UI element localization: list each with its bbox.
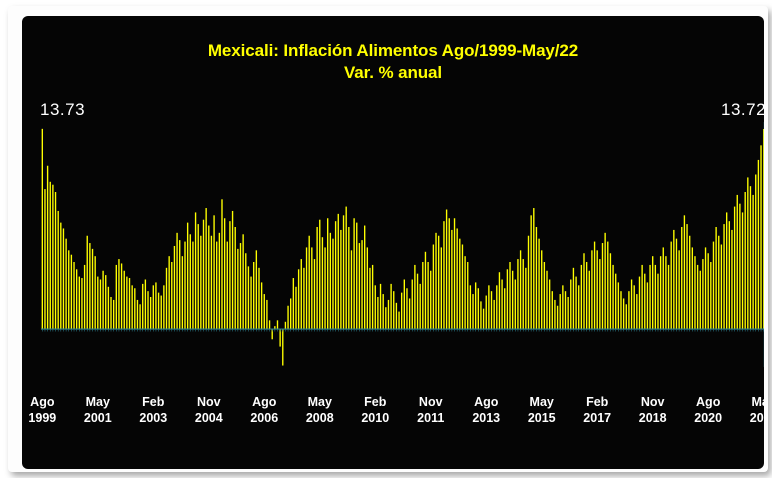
x-tick-month: May [68, 394, 128, 410]
bar [554, 300, 555, 329]
bar [665, 256, 666, 329]
bar [282, 329, 283, 365]
bar [541, 250, 542, 329]
bar [343, 215, 344, 329]
last-value-label: 13.72 [721, 100, 764, 120]
bar [480, 301, 481, 329]
bar [102, 271, 103, 329]
x-tick-month: Ago [22, 394, 72, 410]
bar [182, 256, 183, 329]
bar [256, 250, 257, 329]
bar [557, 306, 558, 329]
bar [348, 227, 349, 329]
bar [414, 265, 415, 329]
bar [504, 288, 505, 329]
bar [747, 177, 748, 329]
bar [634, 285, 635, 329]
bar [438, 236, 439, 329]
bar [591, 250, 592, 329]
bar [116, 265, 117, 329]
bar [113, 300, 114, 329]
bar [422, 262, 423, 329]
bar [538, 239, 539, 329]
bar [464, 256, 465, 329]
bar [478, 288, 479, 329]
bar [190, 234, 191, 329]
bar [607, 242, 608, 330]
bar [383, 294, 384, 329]
bar [491, 291, 492, 329]
bar [626, 304, 627, 329]
bar [668, 265, 669, 329]
bar [50, 182, 51, 329]
bar [533, 208, 534, 329]
bar [92, 249, 93, 329]
bar [602, 243, 603, 329]
bar [240, 243, 241, 329]
bar [689, 236, 690, 329]
x-tick-month: Ago [678, 394, 738, 410]
bar [721, 245, 722, 330]
bar [301, 259, 302, 329]
bar [264, 294, 265, 329]
x-tick-year: 2017 [567, 410, 627, 426]
bar [163, 285, 164, 329]
bar [715, 227, 716, 329]
bar [427, 262, 428, 329]
bar [636, 294, 637, 329]
bar [581, 265, 582, 329]
plot-area [41, 122, 764, 367]
bar [390, 284, 391, 329]
bar [332, 239, 333, 329]
x-tick-month: Nov [401, 394, 461, 410]
bar [530, 215, 531, 329]
bar [731, 230, 732, 329]
bar [126, 277, 127, 330]
bar [346, 207, 347, 330]
bar [87, 236, 88, 329]
bar [708, 253, 709, 329]
bar [242, 234, 243, 329]
bar [567, 297, 568, 329]
bar [425, 252, 426, 329]
bar [42, 129, 43, 329]
bar [351, 250, 352, 329]
bar [734, 207, 735, 330]
bar [652, 256, 653, 329]
bar [694, 256, 695, 329]
x-tick-label-2013: Ago2013 [456, 394, 516, 426]
bar [124, 271, 125, 329]
bar [755, 175, 756, 330]
bar [620, 291, 621, 329]
first-value-label: 13.73 [40, 100, 85, 120]
bar [623, 298, 624, 329]
bar [520, 250, 521, 329]
bar [316, 227, 317, 329]
chart-title-block: Mexicali: Inflación Alimentos Ago/1999-M… [22, 40, 764, 84]
bar [211, 236, 212, 329]
bar [552, 291, 553, 329]
bar [512, 271, 513, 329]
bar [338, 214, 339, 329]
bar [367, 247, 368, 329]
bar [451, 230, 452, 329]
bar [459, 239, 460, 329]
bar [618, 282, 619, 329]
bar [499, 272, 500, 329]
bar [134, 288, 135, 329]
x-tick-month: Ago [456, 394, 516, 410]
bar [663, 247, 664, 329]
bar [700, 271, 701, 329]
bar [322, 237, 323, 329]
bar [528, 236, 529, 329]
bar [660, 256, 661, 329]
bar [356, 223, 357, 329]
bar [110, 297, 111, 329]
x-tick-month: Feb [123, 394, 183, 410]
chart-outer-frame: Mexicali: Inflación Alimentos Ago/1999-M… [8, 6, 768, 472]
x-tick-year: 2008 [290, 410, 350, 426]
bar [287, 306, 288, 329]
x-tick-year: 2013 [456, 410, 516, 426]
bar [266, 300, 267, 329]
x-tick-label-2018: Nov2018 [623, 394, 683, 426]
x-tick-month: Nov [623, 394, 683, 410]
bar [544, 262, 545, 329]
bar [575, 277, 576, 330]
bar [147, 291, 148, 329]
bar [155, 282, 156, 329]
bar [279, 329, 280, 347]
bar [493, 300, 494, 329]
bar [546, 271, 547, 329]
bar [195, 212, 196, 329]
x-tick-label-1999: Ago1999 [22, 394, 72, 426]
bar [657, 274, 658, 329]
bar [393, 291, 394, 329]
x-tick-year: 2020 [678, 410, 738, 426]
x-tick-year: 2015 [512, 410, 572, 426]
bar [475, 282, 476, 329]
x-tick-label-2001: May2001 [68, 394, 128, 426]
bar [319, 220, 320, 329]
x-tick-label-2011: Nov2011 [401, 394, 461, 426]
bar [142, 284, 143, 329]
bar [726, 212, 727, 329]
x-tick-year: 2003 [123, 410, 183, 426]
x-tick-year: 2006 [234, 410, 294, 426]
bar [536, 227, 537, 329]
x-tick-label-2015: May2015 [512, 394, 572, 426]
bar [118, 259, 119, 329]
bar [269, 320, 270, 329]
bar [655, 265, 656, 329]
bar [417, 274, 418, 329]
bar [219, 233, 220, 329]
bar [192, 242, 193, 330]
bar [612, 265, 613, 329]
x-tick-label-2020: Ago2020 [678, 394, 738, 426]
bar [525, 268, 526, 329]
bar [84, 265, 85, 329]
bar [745, 192, 746, 329]
bar [441, 247, 442, 329]
bar [174, 246, 175, 329]
bar [253, 262, 254, 329]
bar [628, 291, 629, 329]
bar [686, 224, 687, 329]
bar [604, 233, 605, 329]
bar [430, 271, 431, 329]
bar [752, 195, 753, 329]
bar [742, 212, 743, 329]
bar [523, 259, 524, 329]
bar [684, 215, 685, 329]
bar [647, 282, 648, 329]
bar [171, 262, 172, 329]
bar [100, 280, 101, 330]
bar [570, 280, 571, 330]
bar [311, 247, 312, 329]
bar [673, 230, 674, 329]
bar [419, 284, 420, 329]
x-tick-year: 2004 [179, 410, 239, 426]
x-tick-label-2017: Feb2017 [567, 394, 627, 426]
x-tick-month: Feb [345, 394, 405, 410]
screenshot-root: Mexicali: Inflación Alimentos Ago/1999-M… [0, 0, 772, 478]
bar [472, 294, 473, 329]
x-tick-label-2006: Ago2006 [234, 394, 294, 426]
bar [44, 189, 45, 329]
bar [406, 288, 407, 329]
x-tick-year: 2001 [68, 410, 128, 426]
bar [375, 285, 376, 329]
bar [89, 243, 90, 329]
bar [361, 240, 362, 329]
bar [229, 221, 230, 329]
bar [245, 253, 246, 329]
bar [248, 266, 249, 329]
bar [166, 268, 167, 329]
bar [702, 259, 703, 329]
bar [517, 259, 518, 329]
bar [377, 297, 378, 329]
x-tick-month: May [512, 394, 572, 410]
x-tick-label-2004: Nov2004 [179, 394, 239, 426]
bar [639, 277, 640, 330]
bar [235, 227, 236, 329]
bar [290, 298, 291, 329]
bar [295, 287, 296, 329]
bar [227, 242, 228, 330]
x-tick-label-2022: May2022 [734, 394, 764, 426]
bar [150, 297, 151, 329]
bar [97, 277, 98, 330]
bar [79, 277, 80, 330]
bar [565, 291, 566, 329]
bar [108, 287, 109, 329]
bar [277, 320, 278, 329]
bar [76, 269, 77, 329]
bar [205, 208, 206, 329]
x-tick-month: Ago [234, 394, 294, 410]
bar [697, 265, 698, 329]
bar [293, 278, 294, 329]
x-tick-month: Feb [567, 394, 627, 410]
bar [200, 236, 201, 329]
bar [388, 300, 389, 329]
bar [488, 285, 489, 329]
bar [161, 296, 162, 330]
bar [221, 199, 222, 329]
x-tick-year: 2018 [623, 410, 683, 426]
bar [456, 228, 457, 329]
bar [396, 303, 397, 329]
bar [729, 221, 730, 329]
bar [137, 300, 138, 329]
bar [129, 278, 130, 329]
x-tick-label-2010: Feb2010 [345, 394, 405, 426]
bar [401, 293, 402, 329]
bar [483, 309, 484, 329]
bar [449, 218, 450, 329]
bar [285, 322, 286, 329]
bar [224, 218, 225, 329]
bar [681, 227, 682, 329]
bar [380, 284, 381, 329]
bar [57, 211, 58, 329]
bar [549, 280, 550, 330]
bar [327, 218, 328, 329]
x-tick-year: 2010 [345, 410, 405, 426]
bar [594, 242, 595, 330]
bar [409, 298, 410, 329]
bar [364, 226, 365, 330]
x-tick-label-2008: May2008 [290, 394, 350, 426]
bar [615, 274, 616, 329]
bar [261, 282, 262, 329]
bar [467, 262, 468, 329]
bar [750, 186, 751, 329]
bar [309, 236, 310, 329]
bar [515, 280, 516, 330]
bar [649, 265, 650, 329]
bar [187, 223, 188, 329]
bar [303, 268, 304, 329]
bar [586, 262, 587, 329]
bar [509, 262, 510, 329]
bar [705, 247, 706, 329]
bar [298, 269, 299, 329]
bar [676, 239, 677, 329]
bar [597, 250, 598, 329]
bar [63, 228, 64, 329]
bar [105, 275, 106, 329]
bar [412, 280, 413, 330]
bar [610, 253, 611, 329]
bar [758, 160, 759, 329]
bar [631, 280, 632, 330]
bar-series [41, 122, 764, 367]
bar [404, 280, 405, 330]
bar [203, 220, 204, 329]
bar [198, 224, 199, 329]
bar [153, 285, 154, 329]
bar [353, 218, 354, 329]
bar [306, 247, 307, 329]
bar [314, 259, 315, 329]
bar [52, 185, 53, 329]
bar [145, 280, 146, 330]
bar [184, 242, 185, 330]
bar [713, 242, 714, 330]
bar [739, 204, 740, 329]
x-tick-label-2003: Feb2003 [123, 394, 183, 426]
bar [208, 226, 209, 330]
bar [335, 221, 336, 329]
chart-subtitle: Var. % anual [22, 62, 764, 84]
bar [369, 268, 370, 329]
bar [644, 274, 645, 329]
bar [121, 263, 122, 329]
bar [179, 240, 180, 329]
bar [94, 256, 95, 329]
bar [760, 145, 761, 329]
bar [168, 256, 169, 329]
bar [68, 250, 69, 329]
bar [446, 210, 447, 330]
chart-panel: Mexicali: Inflación Alimentos Ago/1999-M… [22, 16, 764, 469]
bar [486, 296, 487, 330]
bar [176, 233, 177, 329]
bar [560, 294, 561, 329]
bar [213, 215, 214, 329]
bar [433, 245, 434, 330]
bar [237, 249, 238, 329]
bar [73, 262, 74, 329]
bar [55, 192, 56, 329]
bar [562, 285, 563, 329]
bar [578, 285, 579, 329]
bar [589, 271, 590, 329]
bar [250, 277, 251, 330]
bar [71, 255, 72, 329]
bar [723, 224, 724, 329]
bar [443, 221, 444, 329]
bar [359, 243, 360, 329]
bar-chart-svg [41, 122, 764, 367]
bar [678, 250, 679, 329]
bar [47, 166, 48, 329]
x-axis-tick-labels: Ago1999May2001Feb2003Nov2004Ago2006May20… [41, 394, 764, 440]
bar [330, 233, 331, 329]
bar [324, 247, 325, 329]
bar [435, 233, 436, 329]
bar [737, 195, 738, 329]
bar [340, 230, 341, 329]
bar [507, 269, 508, 329]
bar [692, 247, 693, 329]
bar [139, 304, 140, 329]
bar [641, 265, 642, 329]
chart-title: Mexicali: Inflación Alimentos Ago/1999-M… [22, 40, 764, 62]
bar [232, 211, 233, 329]
bar [599, 259, 600, 329]
bar [60, 223, 61, 329]
